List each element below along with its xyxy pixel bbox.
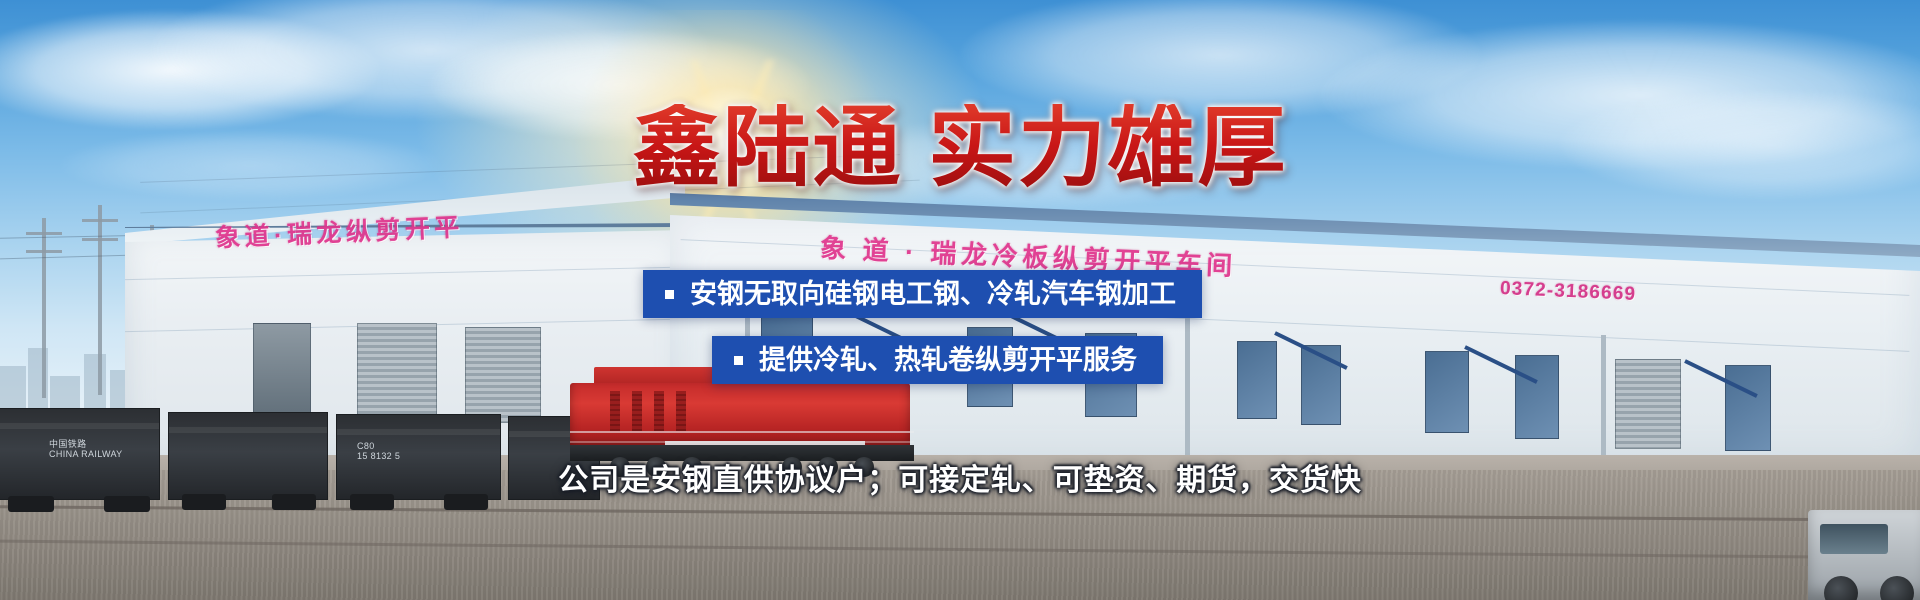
wagon-mark-line1: C80 bbox=[357, 441, 375, 451]
locomotive-wheel bbox=[646, 457, 666, 477]
hero-banner: 象道·瑞龙纵剪开平 象 道 · 瑞龙冷板纵剪开平车间 0372-3186669 … bbox=[0, 0, 1920, 600]
locomotive-grill bbox=[632, 391, 642, 431]
wagon-mark-line1: 中国铁路 bbox=[49, 439, 86, 449]
freight-wagon: 中国铁路 CHINA RAILWAY bbox=[0, 408, 160, 500]
truck-windshield bbox=[1820, 524, 1888, 554]
freight-wagon: C80 15 8132 5 bbox=[336, 414, 501, 500]
wagon-mark-line2: 15 8132 5 bbox=[357, 451, 400, 461]
wagon-bogie bbox=[8, 496, 54, 512]
wagon-bogie bbox=[272, 494, 316, 510]
locomotive-grill bbox=[654, 391, 664, 431]
factory-window bbox=[1237, 341, 1277, 419]
locomotive-wheel bbox=[610, 457, 630, 477]
factory-window bbox=[1425, 351, 1469, 433]
roller-shutter-door bbox=[465, 327, 541, 423]
truck-wheel bbox=[1824, 576, 1858, 600]
wagon-mark-line2: CHINA RAILWAY bbox=[49, 449, 123, 459]
freight-wagon bbox=[168, 412, 328, 500]
locomotive-wheel bbox=[682, 457, 702, 477]
factory-door bbox=[253, 323, 311, 423]
downspout bbox=[1185, 305, 1190, 455]
locomotive-wheel bbox=[782, 457, 802, 477]
locomotive-grill bbox=[676, 391, 686, 431]
locomotive-grill bbox=[610, 391, 620, 431]
wagon-bogie bbox=[182, 494, 226, 510]
feature-box-2-label: 提供冷轧、热轧卷纵剪开平服务 bbox=[759, 347, 1137, 374]
utility-pole-arm bbox=[82, 219, 118, 222]
utility-pole bbox=[98, 205, 102, 395]
wagon-bogie bbox=[444, 494, 488, 510]
utility-pole-arm bbox=[26, 250, 62, 253]
factory-window bbox=[1515, 355, 1559, 439]
feature-box-2[interactable]: 提供冷轧、热轧卷纵剪开平服务 bbox=[712, 336, 1163, 384]
feature-box-1-label: 安钢无取向硅钢电工钢、冷轧汽车钢加工 bbox=[690, 281, 1176, 308]
factory-window bbox=[1725, 365, 1771, 451]
locomotive-wheel bbox=[854, 457, 874, 477]
utility-pole-arm bbox=[82, 238, 118, 241]
utility-pole-arm bbox=[26, 232, 62, 235]
square-bullet-icon bbox=[734, 356, 743, 365]
locomotive-wheel bbox=[818, 457, 838, 477]
roller-shutter-door bbox=[357, 323, 437, 423]
wagon-bogie bbox=[350, 494, 394, 510]
square-bullet-icon bbox=[665, 290, 674, 299]
wagon-bogie bbox=[104, 496, 150, 512]
utility-pole bbox=[42, 218, 46, 398]
foreground-truck bbox=[1808, 510, 1920, 600]
truck-wheel bbox=[1880, 576, 1914, 600]
roller-shutter-door bbox=[1615, 359, 1681, 449]
feature-box-1[interactable]: 安钢无取向硅钢电工钢、冷轧汽车钢加工 bbox=[643, 270, 1202, 318]
downspout bbox=[1601, 335, 1606, 475]
